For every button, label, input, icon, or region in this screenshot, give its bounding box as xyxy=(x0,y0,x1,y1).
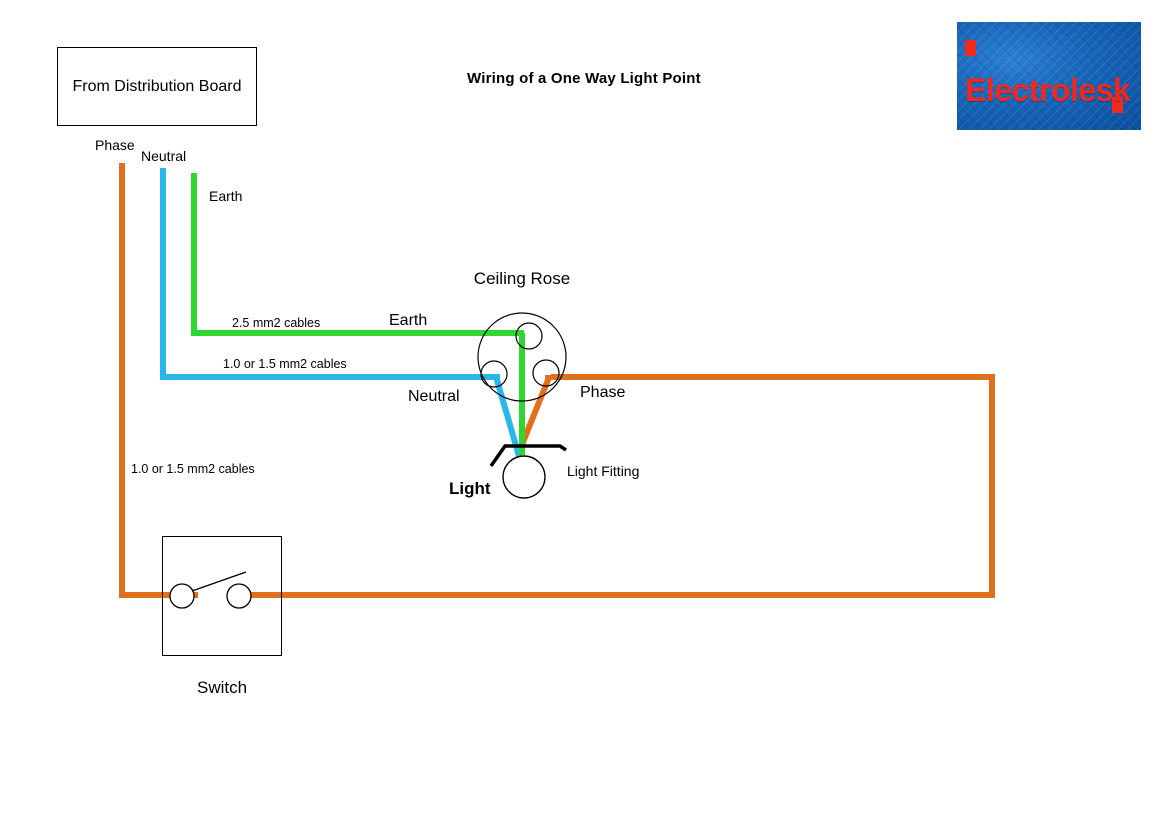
distribution-board-box: From Distribution Board xyxy=(57,47,257,126)
cable-size-switch-label: 1.0 or 1.5 mm2 cables xyxy=(131,462,255,477)
phase-label-top: Phase xyxy=(95,137,135,154)
light-fitting-label: Light Fitting xyxy=(567,463,639,480)
page-title: Wiring of a One Way Light Point xyxy=(467,70,701,88)
logo-square-top-left xyxy=(965,40,976,56)
neutral-label-top: Neutral xyxy=(141,148,186,165)
earth-label-top: Earth xyxy=(209,188,242,205)
cable-size-neutral-label: 1.0 or 1.5 mm2 cables xyxy=(223,357,347,372)
cable-size-earth-label: 2.5 mm2 cables xyxy=(232,316,320,331)
switch-box[interactable] xyxy=(162,536,282,656)
earth-wire-main xyxy=(194,173,524,333)
light-bulb[interactable] xyxy=(503,456,545,498)
wiring-diagram-canvas: From Distribution Board Wiring of a One … xyxy=(0,0,1170,827)
neutral-label-mid: Neutral xyxy=(408,388,460,407)
logo-text: Electrolesk xyxy=(965,72,1130,109)
phase-label-mid: Phase xyxy=(580,384,625,403)
electrolesk-logo: Electrolesk xyxy=(957,22,1141,130)
ceiling-rose-label: Ceiling Rose xyxy=(462,269,582,289)
phase-wire-switch-return xyxy=(243,377,992,595)
distribution-board-label: From Distribution Board xyxy=(73,78,242,96)
earth-label-mid: Earth xyxy=(389,312,427,331)
light-label: Light xyxy=(449,479,491,499)
switch-label: Switch xyxy=(197,678,247,698)
